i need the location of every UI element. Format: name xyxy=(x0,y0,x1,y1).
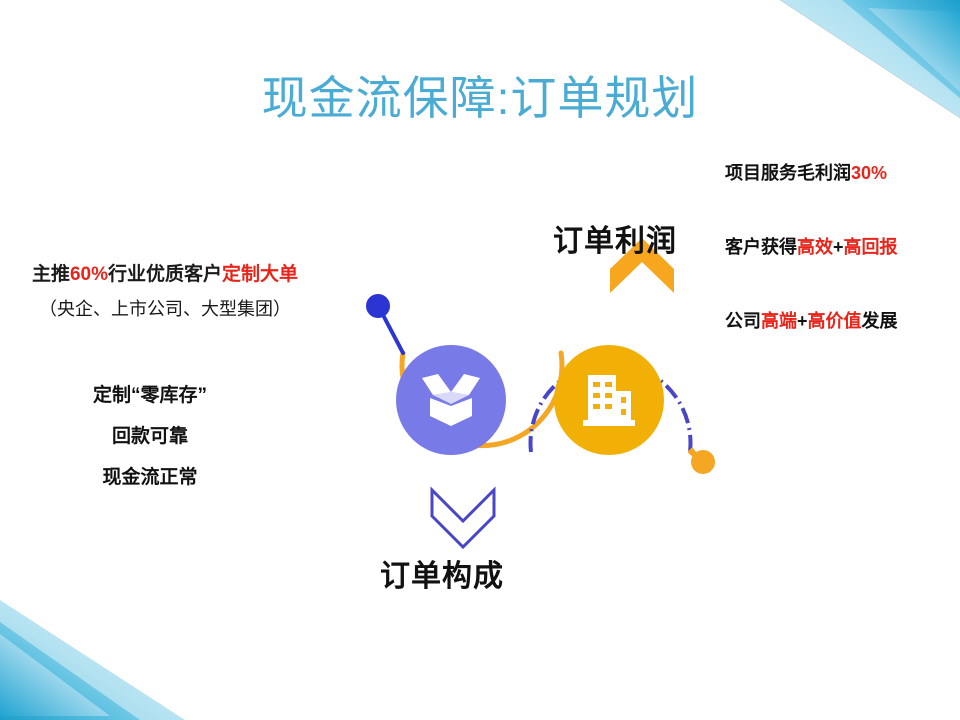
right-line-3-seg-4: 高价值 xyxy=(808,311,862,331)
left-bullet-item-1: 定制“零库存” xyxy=(0,386,300,405)
left-bullet-item-2: 回款可靠 xyxy=(0,427,300,446)
corner-decoration-bottom-left xyxy=(0,570,300,720)
chevron-down-icon xyxy=(432,490,494,547)
left-text-block: 主推60%行业优质客户定制大单 （央企、上市公司、大型集团） xyxy=(0,262,330,321)
node-company-circle[interactable] xyxy=(554,345,664,455)
right-line-2-seg-2: 高效 xyxy=(797,237,833,257)
open-box-icon xyxy=(396,345,506,455)
central-diagram xyxy=(320,200,740,600)
left-bullet-list: 定制“零库存” 回款可靠 现金流正常 xyxy=(0,386,300,487)
diagram-label-order-profit: 订单利润 xyxy=(515,216,715,260)
left-bullet-item-3: 现金流正常 xyxy=(0,468,300,487)
right-line-2: 客户获得高效+高回报 xyxy=(725,238,960,258)
right-text-block: 项目服务毛利润30% 客户获得高效+高回报 公司高端+高价值发展 xyxy=(725,164,960,331)
left-headline-seg-3: 行业优质客户 xyxy=(108,264,222,285)
left-subline: （央企、上市公司、大型集团） xyxy=(0,297,330,321)
right-line-3: 公司高端+高价值发展 xyxy=(725,312,960,332)
left-headline-seg-4: 定制大单 xyxy=(222,264,298,285)
right-line-3-seg-3: + xyxy=(797,311,808,331)
left-headline-seg-2: 60% xyxy=(70,264,108,285)
node-order-circle[interactable] xyxy=(396,345,506,455)
deco-shape-bl-b xyxy=(0,622,140,720)
right-line-1-seg-1: 项目服务毛利润 xyxy=(725,163,851,183)
right-line-2-seg-3: + xyxy=(833,237,844,257)
slide-title: 现金流保障:订单规划 xyxy=(0,62,960,128)
blue-dot xyxy=(366,294,390,318)
right-line-2-seg-4: 高回报 xyxy=(844,237,898,257)
deco-shape-bl-c xyxy=(0,634,110,716)
deco-shape-bl-a xyxy=(0,600,185,720)
orange-dot xyxy=(691,450,715,474)
slide-canvas: 现金流保障:订单规划 主推60%行业优质客户定制大单 （央企、上市公司、大型集团… xyxy=(0,0,960,720)
right-line-3-seg-5: 发展 xyxy=(862,311,898,331)
right-line-1-seg-2: 30% xyxy=(851,163,887,183)
office-building-icon xyxy=(554,345,664,455)
left-headline: 主推60%行业优质客户定制大单 xyxy=(0,262,330,288)
left-headline-seg-1: 主推 xyxy=(32,264,70,285)
right-line-3-seg-2: 高端 xyxy=(761,311,797,331)
right-line-1: 项目服务毛利润30% xyxy=(725,164,960,184)
diagram-label-order-composition: 订单构成 xyxy=(352,551,532,595)
